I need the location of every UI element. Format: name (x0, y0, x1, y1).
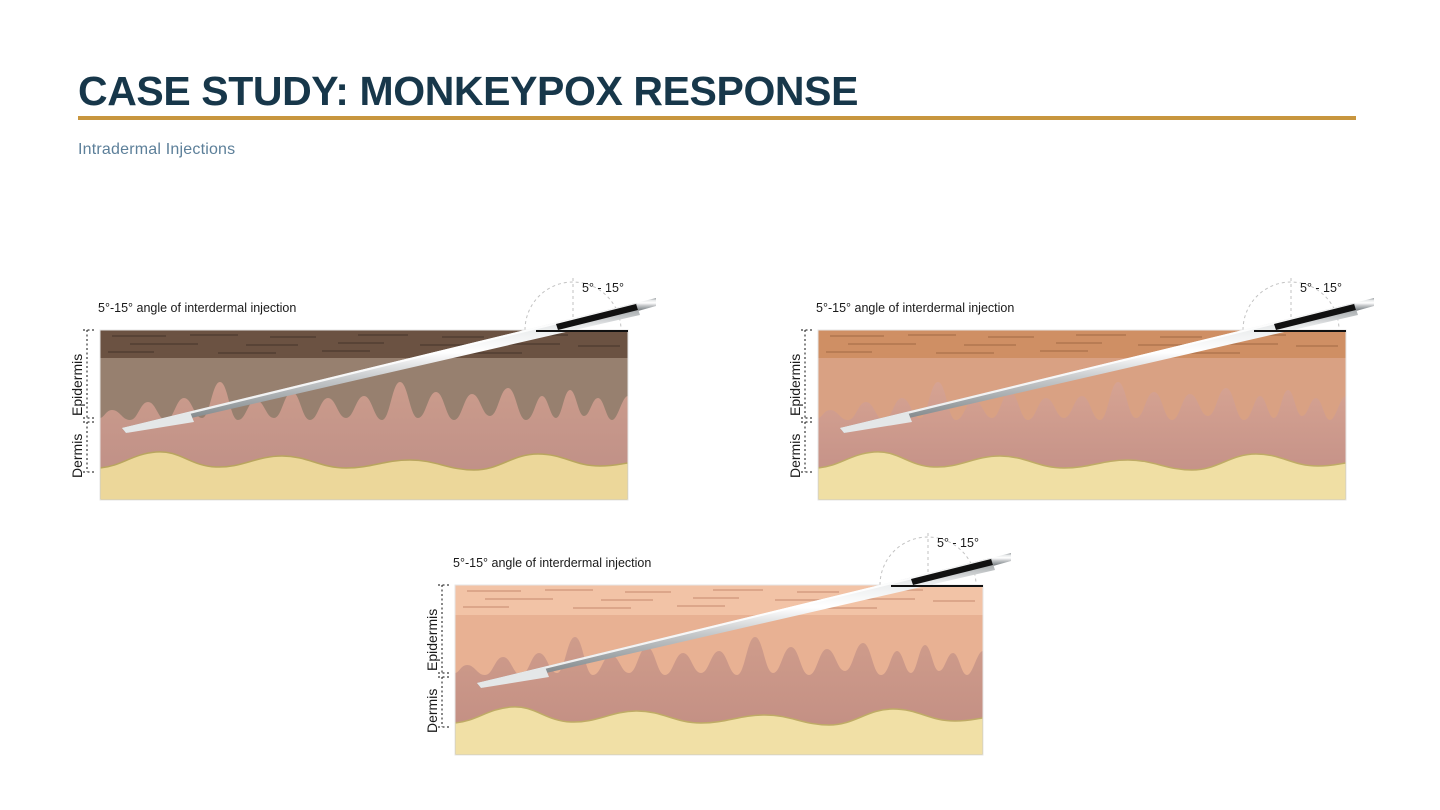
title-underline-rule (78, 116, 1356, 120)
epidermis-label: Epidermis (70, 354, 85, 416)
skin-cross-section-diagram-dark: 5°-15° angle of interdermal injection 5°… (70, 270, 660, 515)
diagram-caption: 5°-15° angle of interdermal injection (816, 301, 1014, 315)
skin-cross-section-diagram-light: 5°-15° angle of interdermal injection 5°… (425, 525, 1015, 770)
page-title: CASE STUDY: MONKEYPOX RESPONSE (78, 68, 858, 114)
angle-label: 5° - 15° (937, 536, 979, 550)
epidermis-label: Epidermis (425, 609, 440, 671)
dermis-label: Dermis (425, 689, 440, 733)
slide-canvas: CASE STUDY: MONKEYPOX RESPONSE Intraderm… (0, 0, 1440, 810)
dermis-label: Dermis (788, 434, 803, 478)
epidermis-label: Epidermis (788, 354, 803, 416)
diagram-caption: 5°-15° angle of interdermal injection (98, 301, 296, 315)
angle-label: 5° - 15° (1300, 281, 1342, 295)
diagram-caption: 5°-15° angle of interdermal injection (453, 556, 651, 570)
skin-cross-section-diagram-medium: 5°-15° angle of interdermal injection 5°… (788, 270, 1378, 515)
slide-subtitle: Intradermal Injections (78, 139, 235, 161)
dermis-label: Dermis (70, 434, 85, 478)
angle-label: 5° - 15° (582, 281, 624, 295)
